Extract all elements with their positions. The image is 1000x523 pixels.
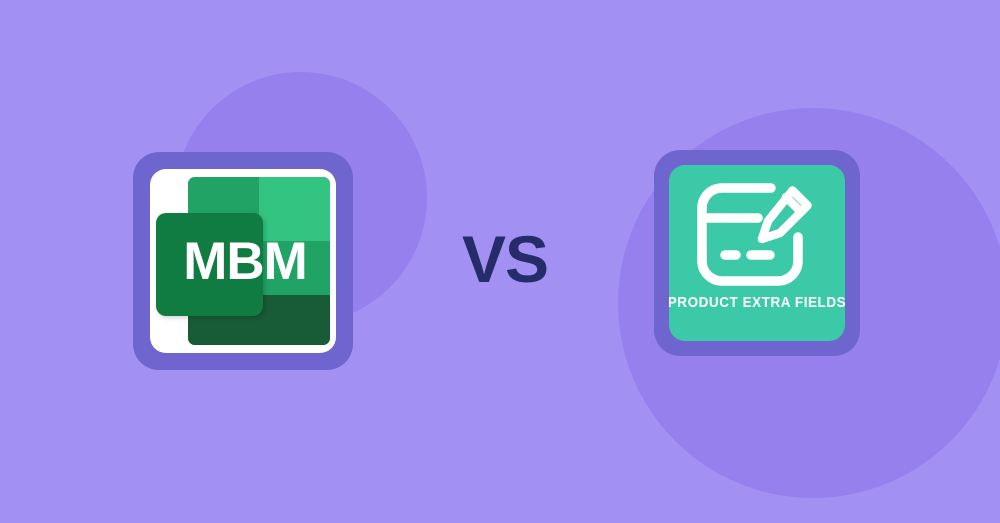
mbm-wordmark: MBM xyxy=(150,169,336,353)
pencil-edit-icon xyxy=(762,191,808,240)
form-card-icon xyxy=(696,182,818,287)
comparison-banner: MBM VS P xyxy=(0,0,1000,523)
product-extra-fields-logo-canvas: PRODUCT EXTRA FIELDS xyxy=(669,165,845,341)
mbm-logo-canvas: MBM xyxy=(150,169,336,353)
left-app-tile[interactable]: MBM xyxy=(133,152,353,370)
versus-label: VS xyxy=(440,226,570,292)
product-extra-fields-caption: PRODUCT EXTRA FIELDS xyxy=(669,295,845,311)
right-app-tile[interactable]: PRODUCT EXTRA FIELDS xyxy=(654,150,860,356)
